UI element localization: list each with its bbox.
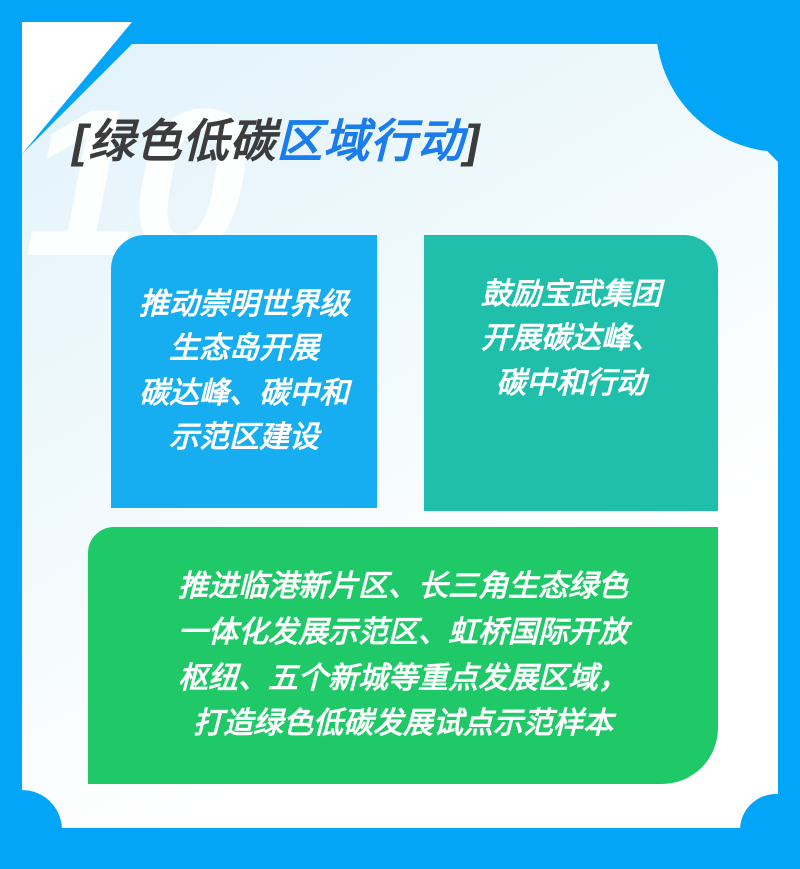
title-close-bracket: ] bbox=[464, 115, 480, 167]
action-line: 鼓励宝武集团 bbox=[434, 273, 708, 317]
action-card-regions: 推进临港新片区、长三角生态绿色 一体化发展示范区、虹桥国际开放 枢纽、五个新城等… bbox=[88, 527, 718, 784]
page-title: [绿色低碳区域行动] bbox=[72, 116, 481, 167]
action-line: 碳中和行动 bbox=[434, 362, 708, 406]
action-card-baowu: 鼓励宝武集团 开展碳达峰、 碳中和行动 bbox=[424, 235, 718, 511]
action-card-chongming: 推动崇明世界级 生态岛开展 碳达峰、碳中和 示范区建设 bbox=[111, 235, 377, 508]
action-line: 开展碳达峰、 bbox=[434, 317, 708, 361]
action-line: 枢纽、五个新城等重点发展区域， bbox=[110, 656, 696, 702]
poster-root: 10 [绿色低碳区域行动] 推动崇明世界级 生态岛开展 碳达峰、碳中和 示范区建… bbox=[0, 0, 800, 869]
title-open-bracket: [ bbox=[72, 115, 88, 167]
action-line: 碳达峰、碳中和 bbox=[119, 372, 369, 416]
action-line: 一体化发展示范区、虹桥国际开放 bbox=[110, 610, 696, 656]
title-text-accent: 区域行动 bbox=[276, 115, 464, 167]
action-line: 推进临港新片区、长三角生态绿色 bbox=[110, 564, 696, 610]
action-line: 打造绿色低碳发展试点示范样本 bbox=[110, 701, 696, 747]
action-card-chongming-text: 推动崇明世界级 生态岛开展 碳达峰、碳中和 示范区建设 bbox=[119, 283, 369, 461]
action-line: 示范区建设 bbox=[119, 416, 369, 460]
action-line: 生态岛开展 bbox=[119, 327, 369, 371]
title-text-dark: 绿色低碳 bbox=[88, 115, 276, 167]
action-card-regions-text: 推进临港新片区、长三角生态绿色 一体化发展示范区、虹桥国际开放 枢纽、五个新城等… bbox=[110, 564, 696, 746]
action-line: 推动崇明世界级 bbox=[119, 283, 369, 327]
action-card-baowu-text: 鼓励宝武集团 开展碳达峰、 碳中和行动 bbox=[434, 273, 708, 406]
